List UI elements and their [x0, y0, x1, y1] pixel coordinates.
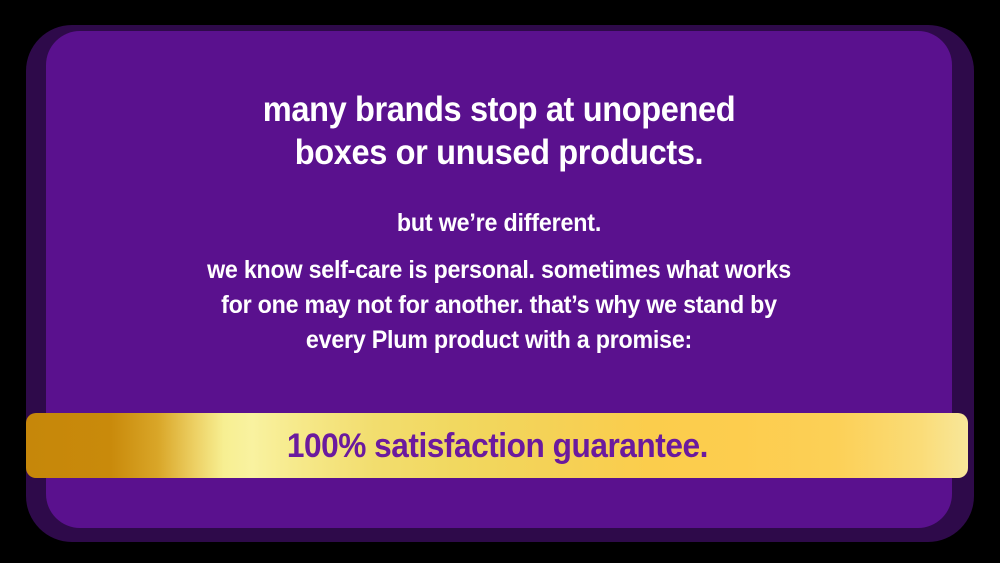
guarantee-banner: 100% satisfaction guarantee.: [26, 413, 968, 478]
headline-text: many brands stop at unopened boxes or un…: [78, 88, 921, 174]
guarantee-banner-label: 100% satisfaction guarantee.: [286, 429, 707, 463]
body-text: we know self-care is personal. sometimes…: [78, 253, 921, 358]
subhead-text: but we’re different.: [78, 207, 921, 239]
promo-card-canvas: many brands stop at unopened boxes or un…: [0, 0, 1000, 563]
